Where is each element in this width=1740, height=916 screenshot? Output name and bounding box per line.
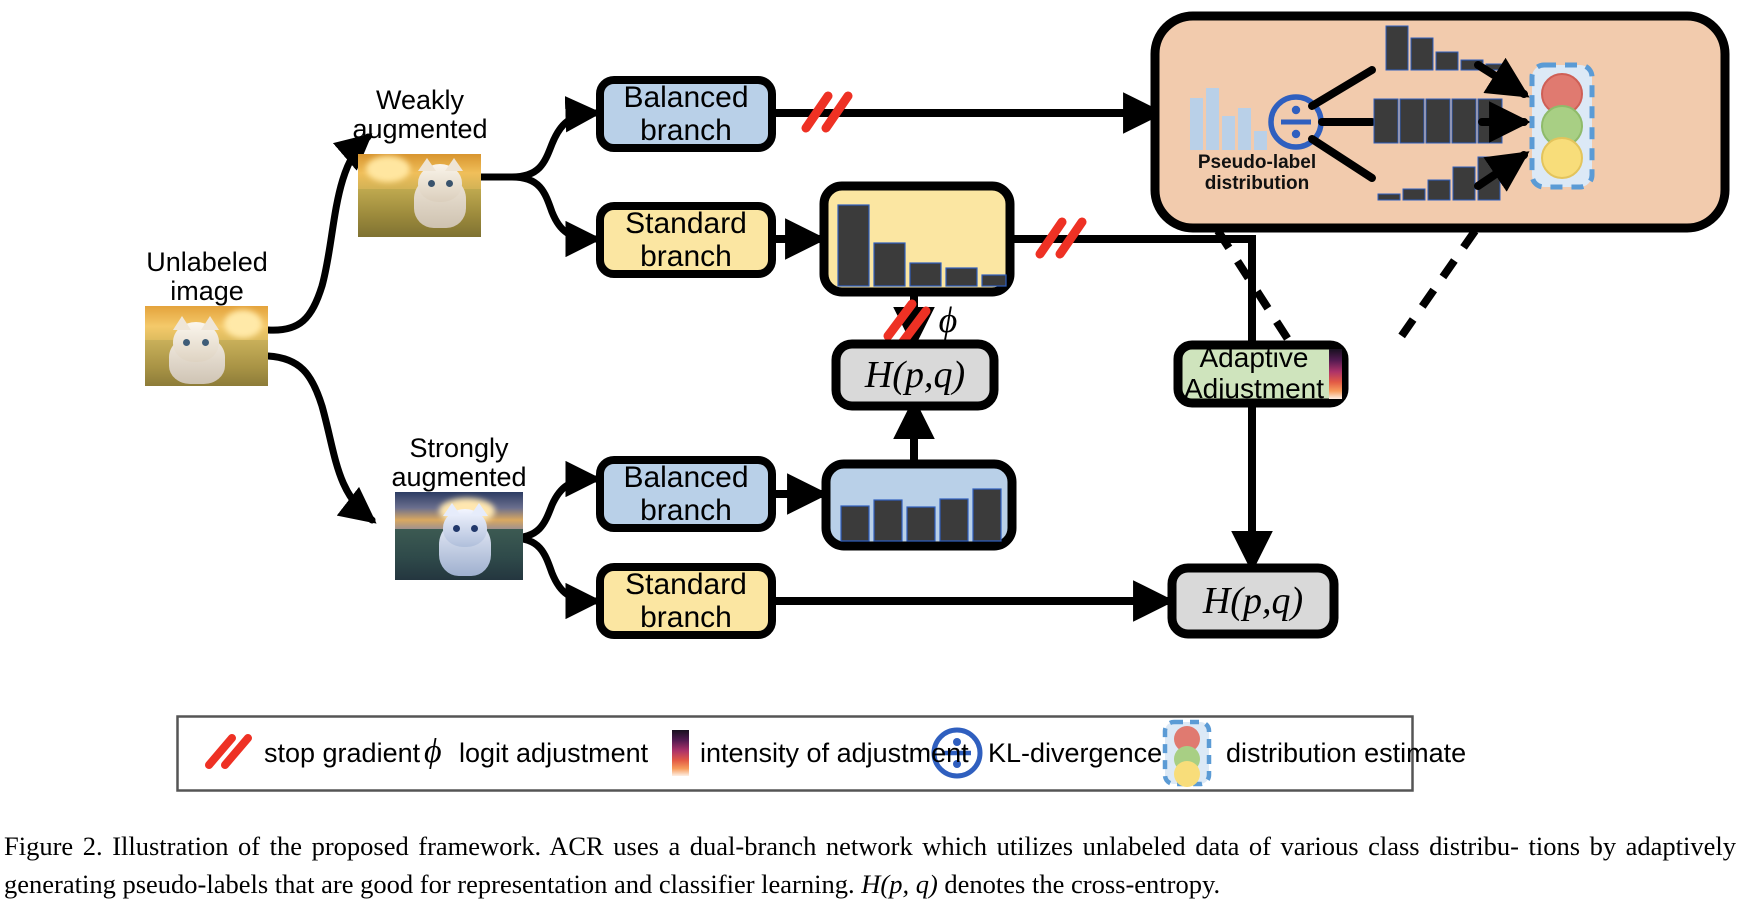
- caption-prefix: Figure 2.: [4, 831, 103, 861]
- caption-line2-b: denotes the cross-entropy.: [944, 869, 1220, 899]
- unlabeled-image-label: Unlabeled image: [128, 248, 286, 306]
- figure-caption: Figure 2. Illustration of the proposed f…: [4, 828, 1736, 903]
- legend-distribution-estimate-icon: [1165, 722, 1209, 787]
- balanced-branch-strong-box[interactable]: [600, 460, 772, 528]
- standard-branch-strong-box[interactable]: [600, 567, 772, 635]
- stop-gradient-icon-phi: [888, 304, 926, 343]
- logits-to-adaptive-path: [1010, 239, 1252, 347]
- legend-label-kl-divergence: KL-divergence: [988, 740, 1162, 767]
- arrow-to-strongly-augmented: [268, 356, 372, 520]
- loss-box-top: [836, 344, 994, 406]
- standard-branch-weak-box[interactable]: [600, 206, 772, 274]
- weakly-augmented-label: Weakly augmented: [340, 86, 500, 144]
- weakly-augmented-image-thumbnail: [358, 154, 481, 237]
- dashed-line-right: [1396, 231, 1475, 344]
- distribution-estimate-icon: [1532, 65, 1592, 187]
- dashed-connectors: [1218, 231, 1475, 344]
- figure-2-container: Unlabeled image Weakly augmented Strongl…: [0, 0, 1740, 916]
- pseudo-label-distribution-title: Pseudo-label distribution: [1172, 152, 1342, 195]
- adaptive-adjustment-colormap-strip: [1329, 349, 1342, 399]
- strongly-augmented-image-thumbnail: [395, 492, 523, 580]
- legend-label-intensity: intensity of adjustment: [700, 740, 969, 767]
- arrow-weak-to-standard: [480, 177, 596, 239]
- adaptive-adjustment-box[interactable]: [1178, 345, 1344, 403]
- caption-math: H(p, q): [861, 869, 938, 899]
- legend-label-logit-adjustment: logit adjustment: [459, 740, 648, 767]
- unlabeled-image-thumbnail: [145, 306, 268, 386]
- diagram-canvas: [0, 0, 1740, 916]
- legend-label-stop-gradient: stop gradient: [264, 740, 420, 767]
- split-arrows-from-unlabeled: [268, 137, 372, 520]
- strongly-augmented-label: Strongly augmented: [378, 434, 540, 492]
- legend-phi-icon: ϕ: [424, 733, 442, 771]
- legend-colormap-bar-icon: [672, 730, 689, 776]
- loss-box-bottom: [1172, 568, 1334, 634]
- legend-label-distribution-estimate: distribution estimate: [1226, 740, 1466, 767]
- balanced-branch-weak-box[interactable]: [600, 80, 772, 148]
- estimate-yellow-light: [1542, 138, 1582, 178]
- caption-line1: Illustration of the proposed framework. …: [112, 831, 1519, 861]
